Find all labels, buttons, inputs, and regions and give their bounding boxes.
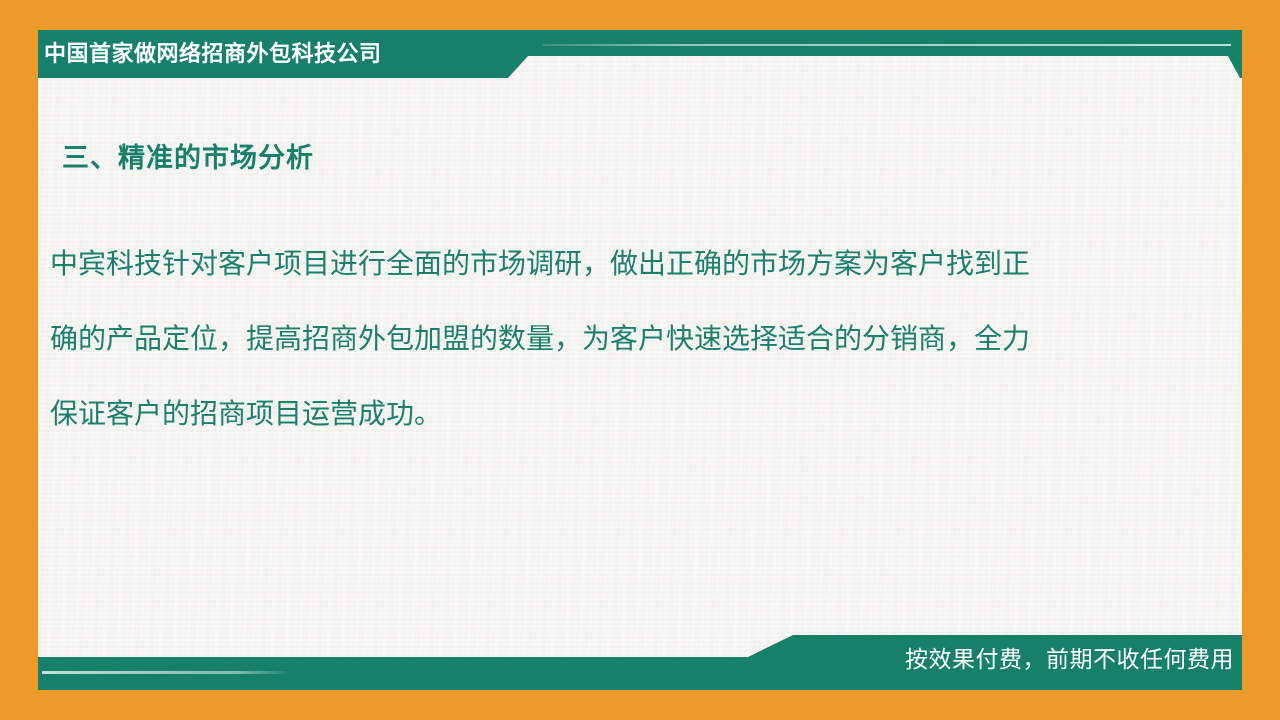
presentation-slide: 中国首家做网络招商外包科技公司 三、精准的市场分析 中宾科技针对客户项目进行全面… [0, 0, 1280, 720]
footer-accent-line [42, 671, 287, 674]
paragraph-line: 保证客户的招商项目运营成功。 [50, 376, 1190, 451]
paragraph-line: 确的产品定位，提高招商外包加盟的数量，为客户快速选择适合的分销商，全力 [50, 301, 1190, 376]
section-heading: 三、精准的市场分析 [62, 136, 314, 175]
footer-tagline: 按效果付费，前期不收任何费用 [905, 640, 1234, 678]
header-accent-line [543, 44, 1231, 46]
header-title: 中国首家做网络招商外包科技公司 [44, 32, 382, 76]
paragraph-line: 中宾科技针对客户项目进行全面的市场调研，做出正确的市场方案为客户找到正 [50, 226, 1190, 301]
body-paragraph: 中宾科技针对客户项目进行全面的市场调研，做出正确的市场方案为客户找到正 确的产品… [50, 226, 1190, 451]
